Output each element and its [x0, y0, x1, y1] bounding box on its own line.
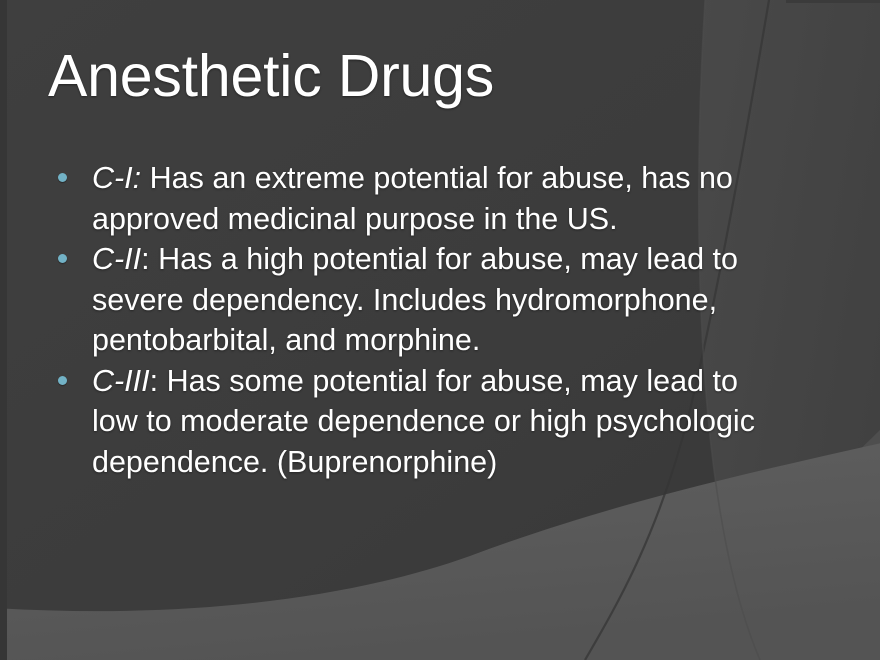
drug-schedule-tag: C-II	[92, 242, 141, 276]
page-title: Anesthetic Drugs	[48, 42, 808, 110]
list-item-text: Has some potential for abuse, may lead t…	[92, 364, 755, 479]
presentation-slide: Anesthetic Drugs C-I: Has an extreme pot…	[0, 0, 880, 660]
bullet-list: C-I: Has an extreme potential for abuse,…	[48, 158, 760, 482]
list-item: C-I: Has an extreme potential for abuse,…	[48, 158, 760, 239]
bullet-dot-icon	[58, 254, 67, 263]
drug-schedule-tag-punct: :	[141, 242, 149, 276]
bullet-dot-icon	[58, 173, 67, 182]
drug-schedule-tag: C-III	[92, 364, 150, 398]
list-item: C-II: Has a high potential for abuse, ma…	[48, 239, 760, 361]
list-item-text: Has a high potential for abuse, may lead…	[92, 242, 738, 357]
drug-schedule-tag-punct: :	[133, 161, 141, 195]
list-item-text: Has an extreme potential for abuse, has …	[92, 161, 733, 236]
drug-schedule-tag-punct: :	[150, 364, 158, 398]
slide-content: Anesthetic Drugs C-I: Has an extreme pot…	[0, 0, 880, 660]
list-item: C-III: Has some potential for abuse, may…	[48, 361, 760, 483]
drug-schedule-tag: C-I	[92, 161, 133, 195]
bullet-dot-icon	[58, 376, 67, 385]
